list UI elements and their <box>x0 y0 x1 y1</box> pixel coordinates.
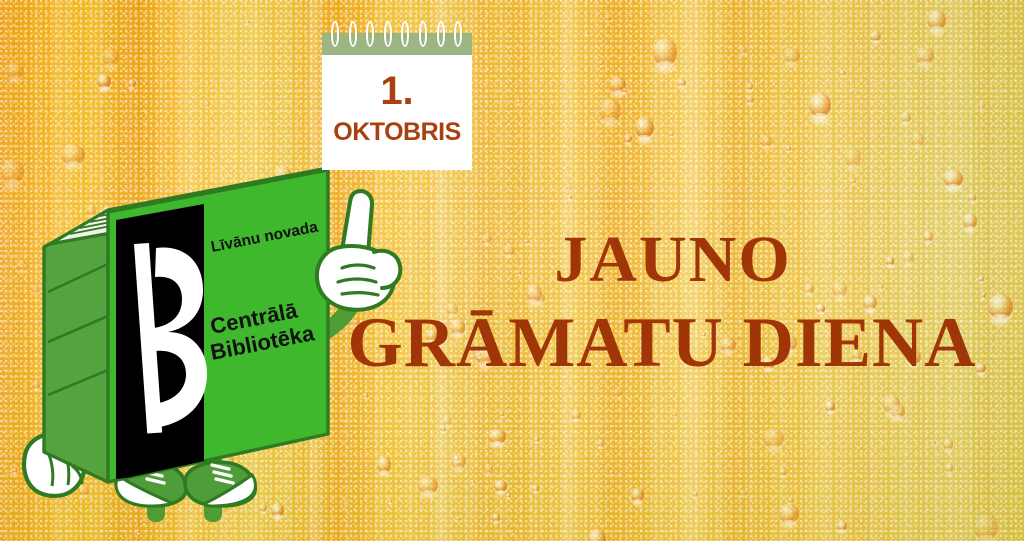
headline-line-1: JAUNO <box>322 228 1024 293</box>
calendar-ring <box>401 21 409 47</box>
calendar-ring <box>331 21 339 47</box>
calendar-ring <box>419 21 427 47</box>
headline-block: JAUNO GRĀMATU DIENA <box>300 228 1024 378</box>
calendar-ring <box>349 21 357 47</box>
calendar-ring <box>384 21 392 47</box>
calendar-month: OKTOBRIS <box>322 118 472 147</box>
mascot-book-spine <box>44 212 108 482</box>
calendar-ring <box>366 21 374 47</box>
calendar-spiral-rings <box>322 21 472 55</box>
poster-canvas: 1. OKTOBRIS <box>0 0 1024 541</box>
calendar-card: 1. OKTOBRIS <box>322 33 472 170</box>
calendar-day: 1. <box>322 69 472 114</box>
headline-line-2: GRĀMATU DIENA <box>300 309 1024 379</box>
calendar-sheet: 1. OKTOBRIS <box>322 55 472 170</box>
calendar-ring <box>437 21 445 47</box>
calendar-ring <box>454 21 462 47</box>
mascot-right-shoe <box>185 462 255 506</box>
